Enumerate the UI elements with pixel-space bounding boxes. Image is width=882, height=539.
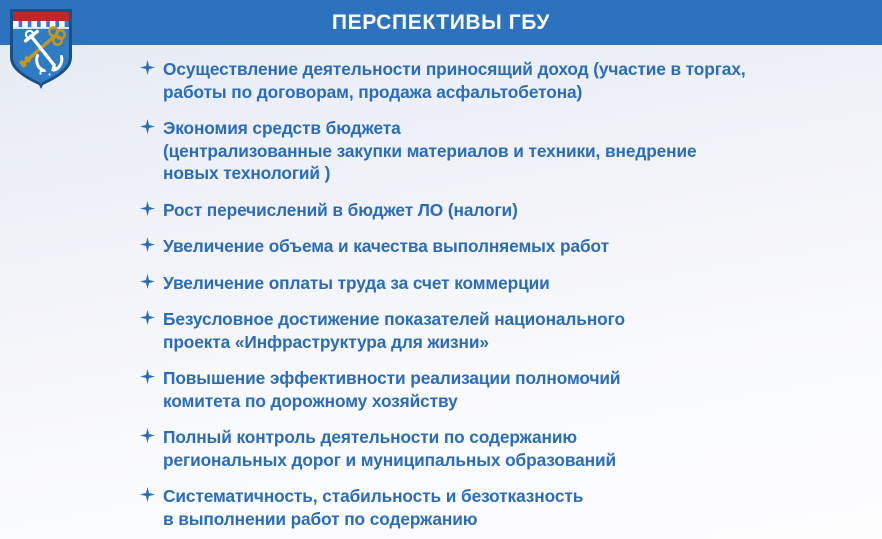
sparkle-diamond-icon	[140, 487, 163, 502]
sparkle-diamond-icon	[140, 310, 163, 325]
list-item-label: Рост перечислений в бюджет ЛО (налоги)	[163, 199, 860, 222]
list-item-label: Безусловное достижение показателей нацио…	[163, 308, 860, 353]
list-item-label: Осуществление деятельности приносящий до…	[163, 58, 860, 103]
sparkle-diamond-icon	[140, 60, 163, 75]
list-item-label: Экономия средств бюджета (централизованн…	[163, 117, 860, 185]
list-item-label: Полный контроль деятельности по содержан…	[163, 426, 860, 471]
sparkle-diamond-icon	[140, 237, 163, 252]
page-title: ПЕРСПЕКТИВЫ ГБУ	[0, 0, 882, 45]
sparkle-diamond-icon	[140, 428, 163, 443]
list-item: Экономия средств бюджета (централизованн…	[140, 117, 860, 185]
list-item: Увеличение оплаты труда за счет коммерци…	[140, 272, 860, 295]
sparkle-diamond-icon	[140, 369, 163, 384]
list-item: Полный контроль деятельности по содержан…	[140, 426, 860, 471]
list-item: Повышение эффективности реализации полно…	[140, 367, 860, 412]
list-item: Осуществление деятельности приносящий до…	[140, 58, 860, 103]
sparkle-diamond-icon	[140, 119, 163, 134]
list-item: Систематичность, стабильность и безотказ…	[140, 485, 860, 530]
list-item: Безусловное достижение показателей нацио…	[140, 308, 860, 353]
sparkle-diamond-icon	[140, 201, 163, 216]
list-item-label: Увеличение оплаты труда за счет коммерци…	[163, 272, 860, 295]
list-item-label: Систематичность, стабильность и безотказ…	[163, 485, 860, 530]
slide-root: ПЕРСПЕКТИВЫ ГБУ	[0, 0, 882, 539]
list-item-label: Увеличение объема и качества выполняемых…	[163, 235, 860, 258]
coat-of-arms-icon	[8, 7, 74, 91]
list-item-label: Повышение эффективности реализации полно…	[163, 367, 860, 412]
perspectives-list: Осуществление деятельности приносящий до…	[140, 58, 860, 539]
sparkle-diamond-icon	[140, 274, 163, 289]
list-item: Увеличение объема и качества выполняемых…	[140, 235, 860, 258]
list-item: Рост перечислений в бюджет ЛО (налоги)	[140, 199, 860, 222]
